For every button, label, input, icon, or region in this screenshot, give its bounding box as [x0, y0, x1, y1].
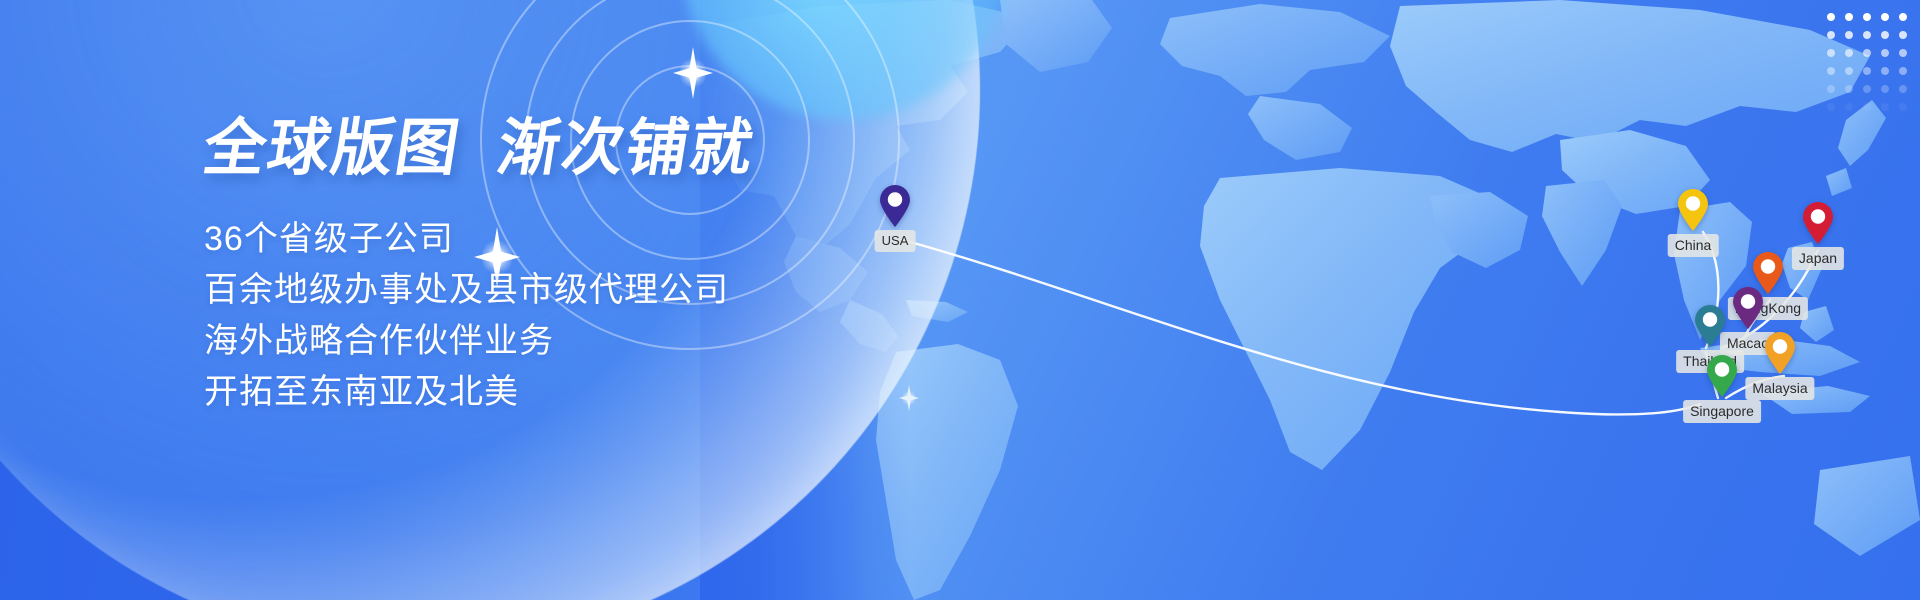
grid-dot	[1863, 67, 1871, 75]
grid-dot	[1845, 49, 1853, 57]
grid-dot	[1845, 13, 1853, 21]
grid-dot	[1881, 13, 1889, 21]
grid-dot	[1863, 49, 1871, 57]
grid-dot	[1827, 49, 1835, 57]
map-marker-singapore[interactable]: Singapore	[1705, 354, 1739, 398]
grid-dot	[1899, 49, 1907, 57]
map-marker-macao[interactable]: Macao	[1731, 286, 1765, 330]
grid-dot	[1881, 67, 1889, 75]
grid-dot	[1827, 67, 1835, 75]
grid-dot	[1845, 103, 1853, 111]
map-marker-label: Japan	[1792, 247, 1844, 270]
grid-dot	[1845, 31, 1853, 39]
grid-dot	[1899, 85, 1907, 93]
map-pin-icon	[1731, 286, 1765, 330]
map-pin-icon	[1676, 188, 1710, 232]
map-pin-icon	[1801, 201, 1835, 245]
dot-grid-decoration	[1822, 8, 1912, 116]
grid-dot	[1899, 67, 1907, 75]
map-pin-icon	[878, 184, 912, 228]
map-pin-icon	[1693, 304, 1727, 348]
grid-dot	[1899, 13, 1907, 21]
grid-dot	[1899, 31, 1907, 39]
banner-copy: 全球版图渐次铺就 36个省级子公司 百余地级办事处及县市级代理公司 海外战略合作…	[204, 118, 964, 418]
map-marker-china[interactable]: China	[1676, 188, 1710, 232]
map-marker-thailand[interactable]: Thailand	[1693, 304, 1727, 348]
map-marker-japan[interactable]: Japan	[1801, 201, 1835, 245]
map-pin-icon	[1705, 354, 1739, 398]
map-marker-label: Malaysia	[1745, 377, 1814, 400]
map-pin-icon	[1763, 331, 1797, 375]
grid-dot	[1845, 85, 1853, 93]
grid-dot	[1899, 103, 1907, 111]
grid-dot	[1863, 103, 1871, 111]
global-map-banner: 全球版图渐次铺就 36个省级子公司 百余地级办事处及县市级代理公司 海外战略合作…	[0, 0, 1920, 600]
grid-dot	[1881, 31, 1889, 39]
grid-dot	[1881, 85, 1889, 93]
grid-dot	[1863, 85, 1871, 93]
subline-1: 百余地级办事处及县市级代理公司	[204, 265, 964, 316]
grid-dot	[1881, 49, 1889, 57]
headline-part-1: 全球版图	[199, 114, 466, 183]
map-marker-label: USA	[875, 230, 916, 252]
map-marker-label: Singapore	[1683, 400, 1761, 423]
grid-dot	[1863, 31, 1871, 39]
sparkle-top-icon	[673, 47, 713, 99]
subline-2: 海外战略合作伙伴业务	[204, 316, 964, 367]
map-marker-malaysia[interactable]: Malaysia	[1763, 331, 1797, 375]
grid-dot	[1863, 13, 1871, 21]
map-marker-label: China	[1668, 234, 1719, 257]
grid-dot	[1827, 103, 1835, 111]
grid-dot	[1827, 85, 1835, 93]
subline-list: 36个省级子公司 百余地级办事处及县市级代理公司 海外战略合作伙伴业务 开拓至东…	[204, 214, 964, 418]
subline-0: 36个省级子公司	[204, 214, 964, 265]
page-title: 全球版图渐次铺就	[199, 118, 969, 180]
map-marker-usa[interactable]: USA	[878, 184, 912, 228]
subline-3: 开拓至东南亚及北美	[204, 367, 964, 418]
grid-dot	[1881, 103, 1889, 111]
grid-dot	[1827, 13, 1835, 21]
grid-dot	[1845, 67, 1853, 75]
grid-dot	[1827, 31, 1835, 39]
headline-part-2: 渐次铺就	[493, 114, 760, 183]
